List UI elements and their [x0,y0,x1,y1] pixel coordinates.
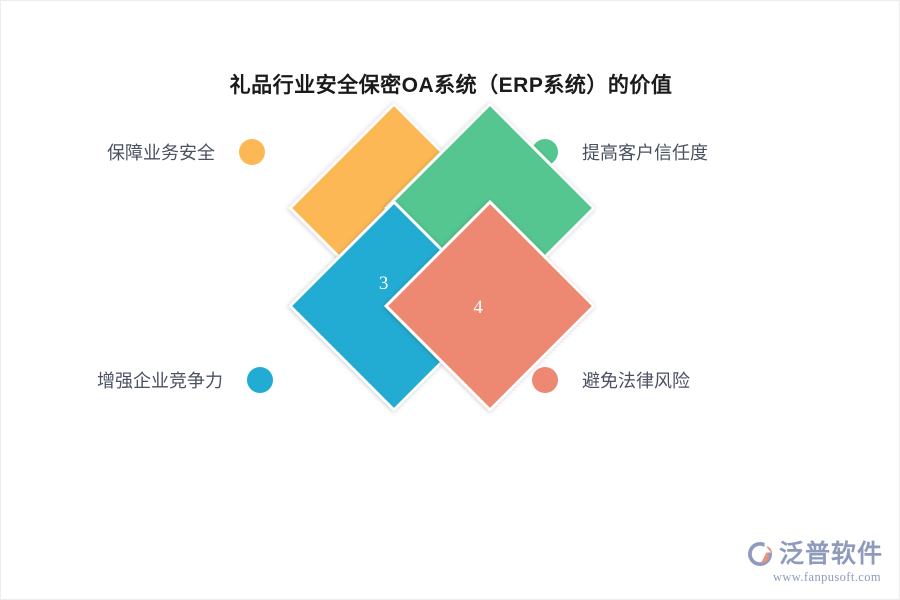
diamond-number-4: 4 [473,298,483,317]
brand-name: 泛普软件 [779,542,883,567]
legend-item-3[interactable]: 增强企业竞争力 [97,367,273,393]
legend-item-1[interactable]: 保障业务安全 [107,139,265,165]
diamond-number-3: 3 [379,274,389,293]
page-title: 礼品行业安全保密OA系统（ERP系统）的价值 [1,69,900,99]
fanpu-swoosh-logo-icon [745,539,775,569]
brand-logo-row: 泛普软件 [745,539,883,569]
legend-bullet-dot-4 [532,367,558,393]
legend-label-4: 避免法律风险 [582,367,690,393]
brand-watermark: 泛普软件 www.fanpusoft.com [745,539,883,585]
legend-bullet-dot-1 [239,139,265,165]
legend-label-2: 提高客户信任度 [582,139,708,165]
diagram-canvas: 礼品行业安全保密OA系统（ERP系统）的价值 1 2 3 4 保障业务安全 提高… [0,0,900,600]
legend-item-2[interactable]: 提高客户信任度 [532,139,708,165]
diamond-cluster: 1 2 3 4 [297,119,587,409]
legend-label-3: 增强企业竞争力 [97,367,223,393]
brand-url: www.fanpusoft.com [773,570,881,585]
legend-item-4[interactable]: 避免法律风险 [532,367,690,393]
legend-label-1: 保障业务安全 [107,139,215,165]
legend-bullet-dot-3 [247,367,273,393]
